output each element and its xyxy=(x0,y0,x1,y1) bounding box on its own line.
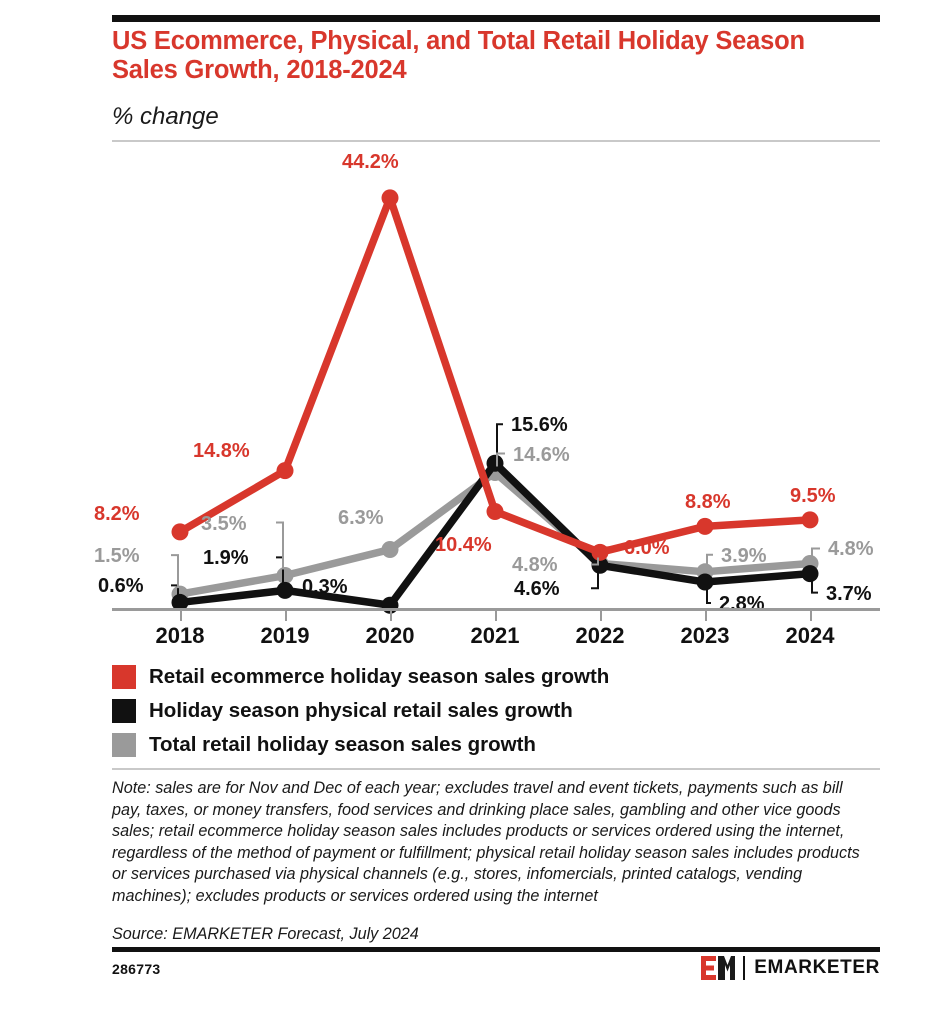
data-point xyxy=(277,567,294,584)
data-point xyxy=(697,574,714,591)
chart-frame: US Ecommerce, Physical, and Total Retail… xyxy=(112,0,880,1024)
data-label: 3.9% xyxy=(721,546,767,566)
chart-subtitle: % change xyxy=(112,103,219,131)
legend-label: Retail ecommerce holiday season sales gr… xyxy=(149,665,609,689)
data-label: 4.6% xyxy=(514,579,560,599)
data-label: 10.4% xyxy=(435,535,492,555)
note-rule xyxy=(112,768,880,770)
chart-note: Note: sales are for Nov and Dec of each … xyxy=(112,778,874,907)
data-point xyxy=(487,455,504,472)
data-point xyxy=(697,518,714,535)
data-label: 15.6% xyxy=(511,415,568,435)
x-axis-label-2021: 2021 xyxy=(435,623,555,649)
legend-item-1[interactable]: Holiday season physical retail sales gro… xyxy=(112,694,880,728)
data-label: 3.5% xyxy=(201,514,247,534)
x-axis-label-2019: 2019 xyxy=(225,623,345,649)
x-axis-tick xyxy=(705,608,707,621)
x-axis-tick xyxy=(495,608,497,621)
label-leader xyxy=(171,555,178,588)
em-monogram-icon xyxy=(701,956,735,980)
data-label: 14.6% xyxy=(513,445,570,465)
chart-id: 286773 xyxy=(112,961,161,977)
data-point xyxy=(487,503,504,520)
x-axis-tick xyxy=(180,608,182,621)
legend-swatch xyxy=(112,699,136,723)
label-leader xyxy=(812,580,818,593)
label-leader xyxy=(276,523,283,570)
data-label: 6.0% xyxy=(624,538,670,558)
x-axis-tick xyxy=(600,608,602,621)
data-label: 6.3% xyxy=(338,508,384,528)
data-label: 0.3% xyxy=(302,577,348,597)
emarketer-wordmark: EMARKETER xyxy=(754,957,880,979)
data-label: 14.8% xyxy=(193,441,250,461)
x-axis-label-2023: 2023 xyxy=(645,623,765,649)
data-label: 4.8% xyxy=(512,555,558,575)
x-axis-tick xyxy=(285,608,287,621)
chart-page: US Ecommerce, Physical, and Total Retail… xyxy=(0,0,940,1024)
data-label: 3.7% xyxy=(826,584,872,604)
data-label: 1.9% xyxy=(203,548,249,568)
label-leader xyxy=(707,588,711,603)
x-axis-tick xyxy=(810,608,812,621)
x-axis-label-2020: 2020 xyxy=(330,623,450,649)
page-title: US Ecommerce, Physical, and Total Retail… xyxy=(112,27,872,85)
x-axis-tick xyxy=(390,608,392,621)
footer-rule xyxy=(112,947,880,952)
x-axis-label-2024: 2024 xyxy=(750,623,870,649)
data-label: 8.8% xyxy=(685,492,731,512)
data-point xyxy=(277,582,294,599)
data-label: 9.5% xyxy=(790,486,836,506)
data-point xyxy=(172,523,189,540)
data-label: 0.6% xyxy=(98,576,144,596)
data-label: 4.8% xyxy=(828,539,874,559)
legend-item-0[interactable]: Retail ecommerce holiday season sales gr… xyxy=(112,660,880,694)
top-rule xyxy=(112,15,880,22)
chart-legend: Retail ecommerce holiday season sales gr… xyxy=(112,660,880,762)
legend-swatch xyxy=(112,733,136,757)
data-point xyxy=(802,511,819,528)
data-label: 44.2% xyxy=(342,152,399,172)
data-point xyxy=(277,462,294,479)
subtitle-rule xyxy=(112,140,880,142)
x-axis-label-2022: 2022 xyxy=(540,623,660,649)
legend-label: Holiday season physical retail sales gro… xyxy=(149,699,573,723)
legend-label: Total retail holiday season sales growth xyxy=(149,733,536,757)
data-point xyxy=(802,565,819,582)
x-axis-label-2018: 2018 xyxy=(120,623,240,649)
label-leader xyxy=(707,555,713,566)
series-line-1 xyxy=(180,463,810,605)
label-leader xyxy=(591,571,598,588)
emarketer-logo: EMARKETER xyxy=(701,955,880,981)
data-label: 1.5% xyxy=(94,546,140,566)
logo-divider xyxy=(743,956,745,980)
label-leader xyxy=(497,424,503,457)
line-chart-plot: 8.2%14.8%44.2%10.4%6.0%8.8%9.5%0.6%1.9%0… xyxy=(112,150,880,650)
x-axis: 2018201920202021202220232024 xyxy=(112,608,880,648)
data-label: 8.2% xyxy=(94,504,140,524)
label-leader xyxy=(602,546,616,547)
data-point xyxy=(382,541,399,558)
chart-source: Source: EMARKETER Forecast, July 2024 xyxy=(112,925,419,944)
legend-swatch xyxy=(112,665,136,689)
data-point xyxy=(382,189,399,206)
legend-item-2[interactable]: Total retail holiday season sales growth xyxy=(112,728,880,762)
